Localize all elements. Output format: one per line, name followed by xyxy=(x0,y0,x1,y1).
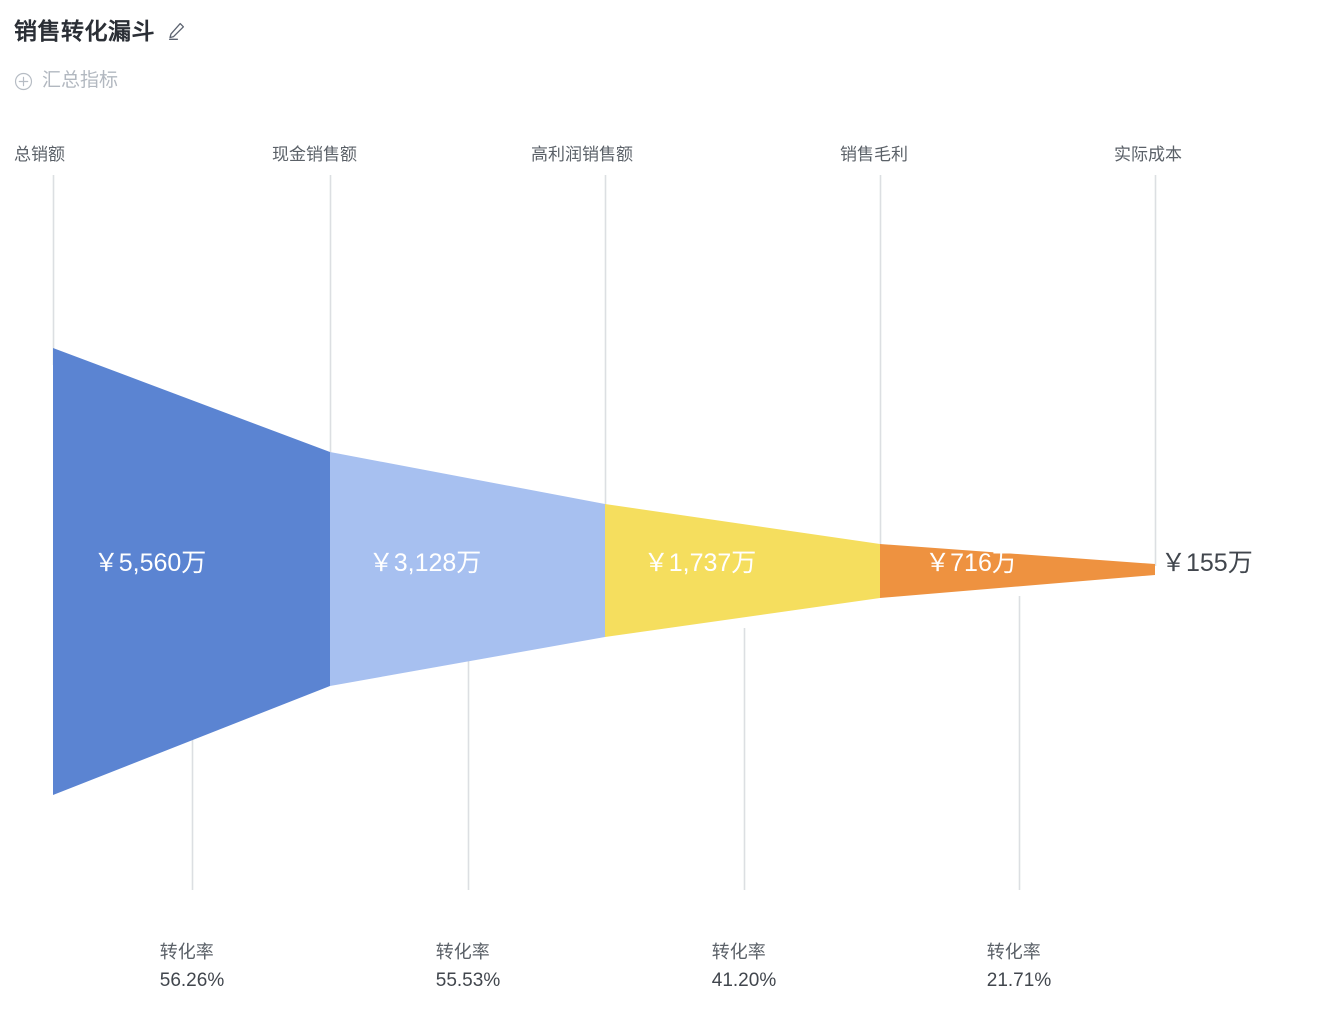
stage-label-2: 现金销售额 xyxy=(272,144,357,166)
conversion-rate-value-3: 41.20% xyxy=(712,966,776,996)
funnel-band-4[interactable] xyxy=(880,544,1155,598)
conversion-rate-title-4: 转化率 xyxy=(987,938,1051,966)
stage-label-3: 高利润销售额 xyxy=(531,144,633,166)
conversion-rate-1: 转化率 56.26% xyxy=(160,938,224,996)
value-label-3: ￥1,737万 xyxy=(644,548,757,578)
stage-label-1: 总销额 xyxy=(14,144,65,166)
value-label-5: ￥155万 xyxy=(1161,548,1253,578)
conversion-rate-3: 转化率 41.20% xyxy=(712,938,776,996)
conversion-rate-value-2: 55.53% xyxy=(436,966,500,996)
value-label-1: ￥5,560万 xyxy=(94,548,207,578)
conversion-rate-title-3: 转化率 xyxy=(712,938,776,966)
conversion-rate-title-2: 转化率 xyxy=(436,938,500,966)
value-label-4: ￥716万 xyxy=(925,548,1017,578)
funnel-chart: 总销额 现金销售额 高利润销售额 销售毛利 实际成本 ￥5,560万 ￥3,12… xyxy=(0,0,1338,1036)
stage-label-4: 销售毛利 xyxy=(840,144,908,166)
conversion-rate-value-4: 21.71% xyxy=(987,966,1051,996)
stage-label-5: 实际成本 xyxy=(1114,144,1182,166)
funnel-chart-page: 销售转化漏斗 汇总指标 xyxy=(0,0,1338,1036)
conversion-rate-title-1: 转化率 xyxy=(160,938,224,966)
conversion-rate-4: 转化率 21.71% xyxy=(987,938,1051,996)
conversion-rate-2: 转化率 55.53% xyxy=(436,938,500,996)
value-label-2: ￥3,128万 xyxy=(369,548,482,578)
conversion-rate-value-1: 56.26% xyxy=(160,966,224,996)
